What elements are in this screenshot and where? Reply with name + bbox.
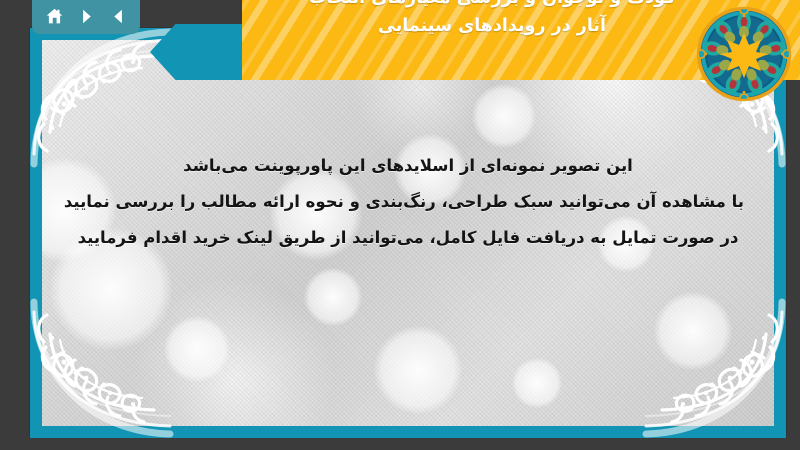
bokeh-circle	[374, 326, 462, 414]
persian-medallion-icon	[696, 0, 792, 116]
slide-title: تحلیل دلایل حذف فیلم «روماک» از جشنواره …	[260, 0, 724, 40]
stage-bottom-strip	[0, 438, 800, 450]
slide-body-text: این تصویر نمونه‌ای از اسلایدهای این پاور…	[72, 148, 744, 256]
bokeh-circle	[472, 84, 536, 148]
body-line: این تصویر نمونه‌ای از اسلایدهای این پاور…	[72, 148, 744, 184]
ribbon-arrow-tail	[150, 24, 248, 80]
back-button[interactable]	[105, 4, 131, 28]
slide-background: این تصویر نمونه‌ای از اسلایدهای این پاور…	[42, 40, 774, 426]
home-icon	[45, 7, 64, 26]
bokeh-circle	[654, 292, 732, 370]
navigation-toolbar	[32, 0, 140, 34]
forward-button[interactable]	[73, 4, 99, 28]
triangle-left-icon	[110, 8, 127, 25]
bokeh-circle	[304, 268, 362, 326]
home-button[interactable]	[41, 4, 67, 28]
body-line: با مشاهده آن می‌توانید سبک طراحی، رنگ‌بن…	[72, 184, 744, 220]
bokeh-circle	[512, 358, 562, 408]
body-line: در صورت تمایل به دریافت فایل کامل، می‌تو…	[72, 220, 744, 256]
triangle-right-icon	[78, 8, 95, 25]
slide-viewer-stage: این تصویر نمونه‌ای از اسلایدهای این پاور…	[0, 0, 800, 450]
bokeh-circle	[164, 316, 230, 382]
